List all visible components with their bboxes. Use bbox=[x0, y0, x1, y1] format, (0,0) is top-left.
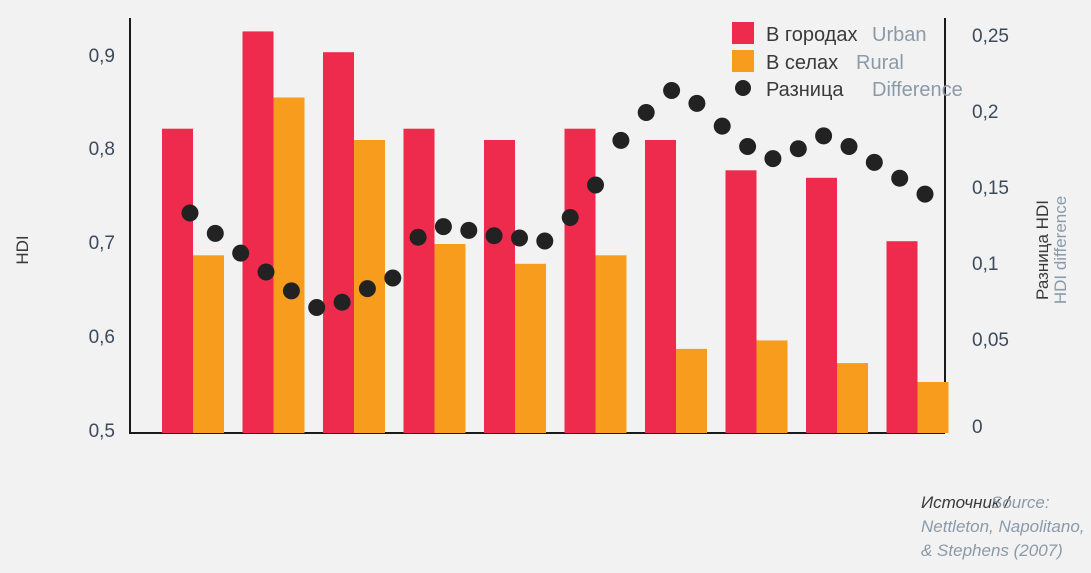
legend-swatch-rural bbox=[732, 50, 754, 72]
bar-urban bbox=[404, 129, 435, 433]
difference-dot bbox=[815, 127, 832, 144]
difference-dot bbox=[714, 118, 731, 135]
difference-dot bbox=[917, 186, 934, 203]
right-axis-title-en: HDI difference bbox=[1051, 196, 1070, 304]
bar-urban bbox=[162, 129, 193, 433]
bar-rural bbox=[676, 349, 707, 433]
difference-dot bbox=[891, 170, 908, 187]
bar-urban bbox=[484, 140, 515, 433]
bar-rural bbox=[596, 255, 627, 433]
bar-rural bbox=[193, 255, 224, 433]
source-line2: Nettleton, Napolitano, bbox=[921, 517, 1085, 536]
difference-dot bbox=[182, 205, 199, 222]
difference-dot bbox=[334, 294, 351, 311]
right-axis-title: Разница HDI HDI difference bbox=[1033, 196, 1070, 304]
right-tick-label: 0 bbox=[972, 417, 983, 438]
chart-container: HDI 0,9 0,8 0,7 0,6 0,5 0,25 0,2 0,15 0,… bbox=[0, 0, 1091, 573]
legend-swatch-urban bbox=[732, 22, 754, 44]
difference-dot bbox=[587, 177, 604, 194]
difference-dot bbox=[359, 280, 376, 297]
bar-rural bbox=[918, 382, 949, 433]
difference-dot bbox=[536, 233, 553, 250]
legend-label-rural-en: Rural bbox=[856, 52, 904, 74]
bar-rural bbox=[757, 340, 788, 433]
difference-dot bbox=[258, 264, 275, 281]
difference-dot bbox=[460, 222, 477, 239]
difference-dot bbox=[638, 104, 655, 121]
bar-urban bbox=[806, 178, 837, 433]
difference-dot bbox=[207, 225, 224, 242]
bar-urban bbox=[565, 129, 596, 433]
bar-rural bbox=[515, 264, 546, 433]
bar-rural bbox=[274, 98, 305, 434]
difference-dot bbox=[410, 229, 427, 246]
right-tick-label: 0,1 bbox=[972, 254, 998, 275]
difference-dot bbox=[866, 154, 883, 171]
difference-dot bbox=[283, 282, 300, 299]
left-tick-label: 0,8 bbox=[89, 139, 115, 160]
source-line1-en: Source: bbox=[991, 493, 1050, 512]
difference-dot bbox=[511, 230, 528, 247]
right-tick-label: 0,05 bbox=[972, 330, 1009, 351]
difference-dot bbox=[612, 132, 629, 149]
difference-dot bbox=[663, 82, 680, 99]
difference-dot bbox=[435, 218, 452, 235]
difference-dot bbox=[764, 150, 781, 167]
legend-label-urban-ru: В городах bbox=[766, 24, 857, 46]
bar-urban bbox=[887, 241, 918, 433]
bar-urban bbox=[726, 170, 757, 433]
right-tick-label: 0,15 bbox=[972, 178, 1009, 199]
right-tick-label: 0,25 bbox=[972, 26, 1009, 47]
bar-urban bbox=[645, 140, 676, 433]
left-tick-label: 0,7 bbox=[89, 233, 115, 254]
bar-rural bbox=[837, 363, 868, 433]
left-tick-label: 0,5 bbox=[89, 421, 115, 442]
hdi-urban-rural-chart: HDI 0,9 0,8 0,7 0,6 0,5 0,25 0,2 0,15 0,… bbox=[0, 0, 1091, 573]
difference-dot bbox=[688, 95, 705, 112]
left-axis-title: HDI bbox=[13, 235, 32, 264]
left-tick-label: 0,9 bbox=[89, 46, 115, 67]
bar-rural bbox=[435, 244, 466, 433]
source-line3: & Stephens (2007) bbox=[921, 541, 1063, 560]
legend-label-urban-en: Urban bbox=[872, 24, 926, 46]
bar-urban bbox=[323, 52, 354, 433]
legend-label-rural-ru: В селах bbox=[766, 52, 838, 74]
difference-dot bbox=[790, 140, 807, 157]
legend-label-difference-en: Difference bbox=[872, 79, 963, 101]
difference-dot bbox=[232, 245, 249, 262]
difference-dot bbox=[384, 270, 401, 287]
difference-dot bbox=[841, 138, 858, 155]
difference-dot bbox=[308, 299, 325, 316]
bar-urban bbox=[243, 31, 274, 433]
left-tick-label: 0,6 bbox=[89, 327, 115, 348]
difference-dot bbox=[739, 138, 756, 155]
right-axis-title-ru: Разница HDI bbox=[1033, 200, 1052, 300]
difference-dot bbox=[486, 227, 503, 244]
right-tick-label: 0,2 bbox=[972, 102, 998, 123]
difference-dot bbox=[562, 209, 579, 226]
legend-label-difference-ru: Разница bbox=[766, 79, 844, 101]
legend-dot-difference bbox=[735, 80, 751, 96]
